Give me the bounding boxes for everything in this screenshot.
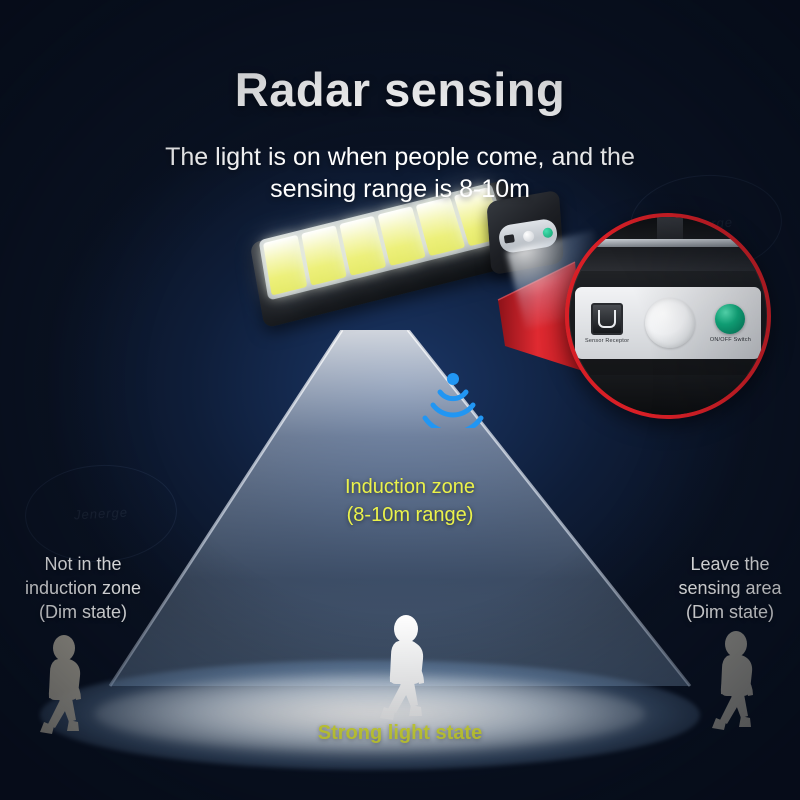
sensor-receptor-label: Sensor Receptor (585, 338, 629, 344)
right-state-label: Leave the sensing area (Dim state) (645, 553, 800, 625)
left-state-label: Not in the induction zone (Dim state) (0, 553, 168, 625)
right-state-line-2: sensing area (645, 577, 800, 601)
motion-sensor-dome (645, 298, 695, 348)
left-state-line-3: (Dim state) (0, 601, 168, 625)
left-state-line-1: Not in the (0, 553, 168, 577)
sensor-receptor-icon (591, 303, 623, 335)
onoff-switch-label: ON/OFF Switch (710, 337, 751, 343)
radar-wave-icon (418, 372, 488, 428)
callout-mount-tab (657, 213, 683, 241)
strong-light-label: Strong light state (280, 722, 520, 745)
sensor-receptor-group: Sensor Receptor (585, 303, 629, 344)
receptor-u-glyph (598, 310, 616, 328)
person-dim-right (694, 628, 774, 742)
callout-housing-bottom (565, 375, 771, 419)
callout-sensor-panel: Sensor Receptor ON/OFF Switch (575, 287, 761, 359)
right-state-line-1: Leave the (645, 553, 800, 577)
induction-zone-range: (8-10m range) (300, 501, 520, 529)
page-subtitle: The light is on when people come, and th… (90, 141, 710, 205)
induction-zone-label: Induction zone (8-10m range) (300, 473, 520, 530)
left-state-line-2: induction zone (0, 577, 168, 601)
power-switch-button[interactable] (542, 227, 553, 238)
onoff-switch-group: ON/OFF Switch (710, 304, 751, 343)
induction-zone-title: Induction zone (300, 473, 520, 501)
callout-metal-strip (565, 239, 771, 247)
cob-led-panel (301, 225, 347, 285)
person-lit-center (362, 612, 446, 730)
onoff-switch-button[interactable] (715, 304, 745, 334)
person-dim-left (22, 632, 102, 744)
sensor-receptor-icon (503, 234, 514, 243)
cob-led-panel (263, 235, 307, 296)
motion-sensor-dome (522, 230, 535, 243)
sensor-callout-circle: Sensor Receptor ON/OFF Switch (565, 213, 771, 419)
subtitle-line-1: The light is on when people come, and th… (90, 141, 710, 173)
subtitle-line-2: sensing range is 8-10m (90, 173, 710, 205)
motion-dome-group (645, 298, 695, 348)
marketing-image: Jenerge Jenerge (0, 0, 800, 800)
right-state-line-3: (Dim state) (645, 601, 800, 625)
page-title: Radar sensing (0, 62, 800, 117)
